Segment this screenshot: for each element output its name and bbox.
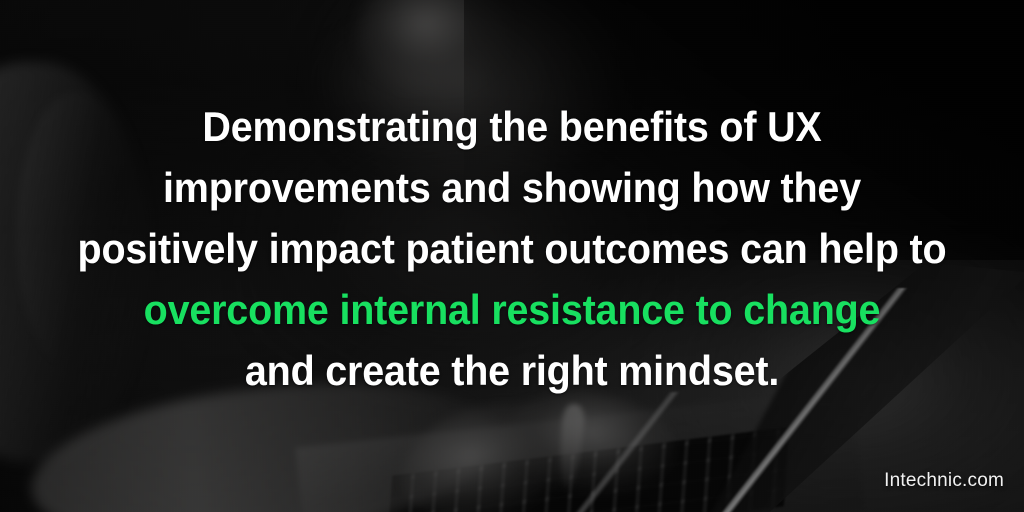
pointing-finger-shape — [556, 403, 585, 491]
quote-card: Demonstrating the benefits of UX improve… — [0, 0, 1024, 512]
quote-line-3: positively impact patient outcomes can h… — [44, 218, 980, 279]
right-hand-shape — [495, 383, 681, 511]
laptop-keyboard-shape — [387, 427, 790, 512]
left-hand-shape — [391, 388, 599, 512]
quote-line-5: and create the right mindset. — [44, 340, 980, 401]
laptop-hinge-highlight — [470, 392, 770, 512]
laptop-base-shape — [295, 389, 864, 512]
watermark-label: Intechnic.com — [884, 470, 1004, 492]
hand-at-face-shape — [358, 0, 508, 90]
quote-line-1: Demonstrating the benefits of UX — [44, 96, 980, 157]
quote-text-block: Demonstrating the benefits of UX improve… — [0, 96, 1024, 401]
quote-line-4-accent: overcome internal resistance to change — [44, 279, 980, 340]
quote-line-2: improvements and showing how they — [44, 157, 980, 218]
